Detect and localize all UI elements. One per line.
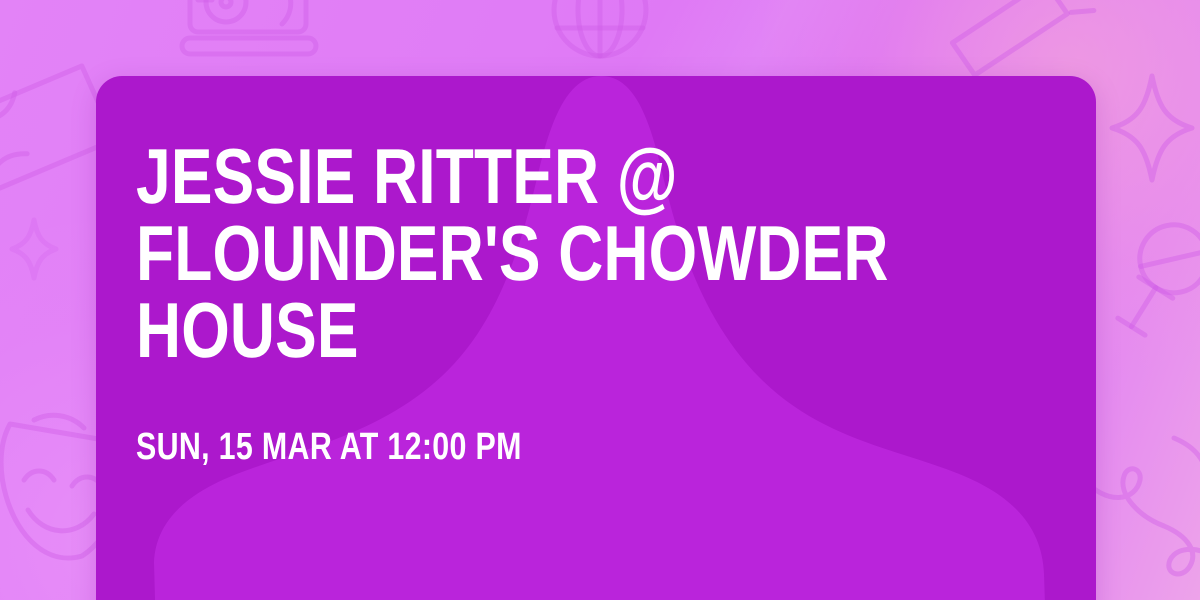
sparkle-icon	[1104, 66, 1200, 190]
streamer-icon	[930, 0, 1100, 84]
disco-ball-icon	[540, 0, 660, 78]
event-date-time: Sun, 15 Mar at 12:00 PM	[136, 428, 1080, 466]
card-content: Jessie Ritter @ Flounder's Chowder House…	[96, 76, 1096, 466]
confetti-icon	[1078, 448, 1200, 600]
sparkle-icon	[6, 214, 62, 284]
event-banner: Jessie Ritter @ Flounder's Chowder House…	[0, 0, 1200, 600]
microphone-icon	[1108, 212, 1200, 362]
event-card: Jessie Ritter @ Flounder's Chowder House…	[96, 76, 1096, 600]
event-title: Jessie Ritter @ Flounder's Chowder House	[136, 138, 1080, 370]
turntable-icon	[168, 0, 328, 82]
